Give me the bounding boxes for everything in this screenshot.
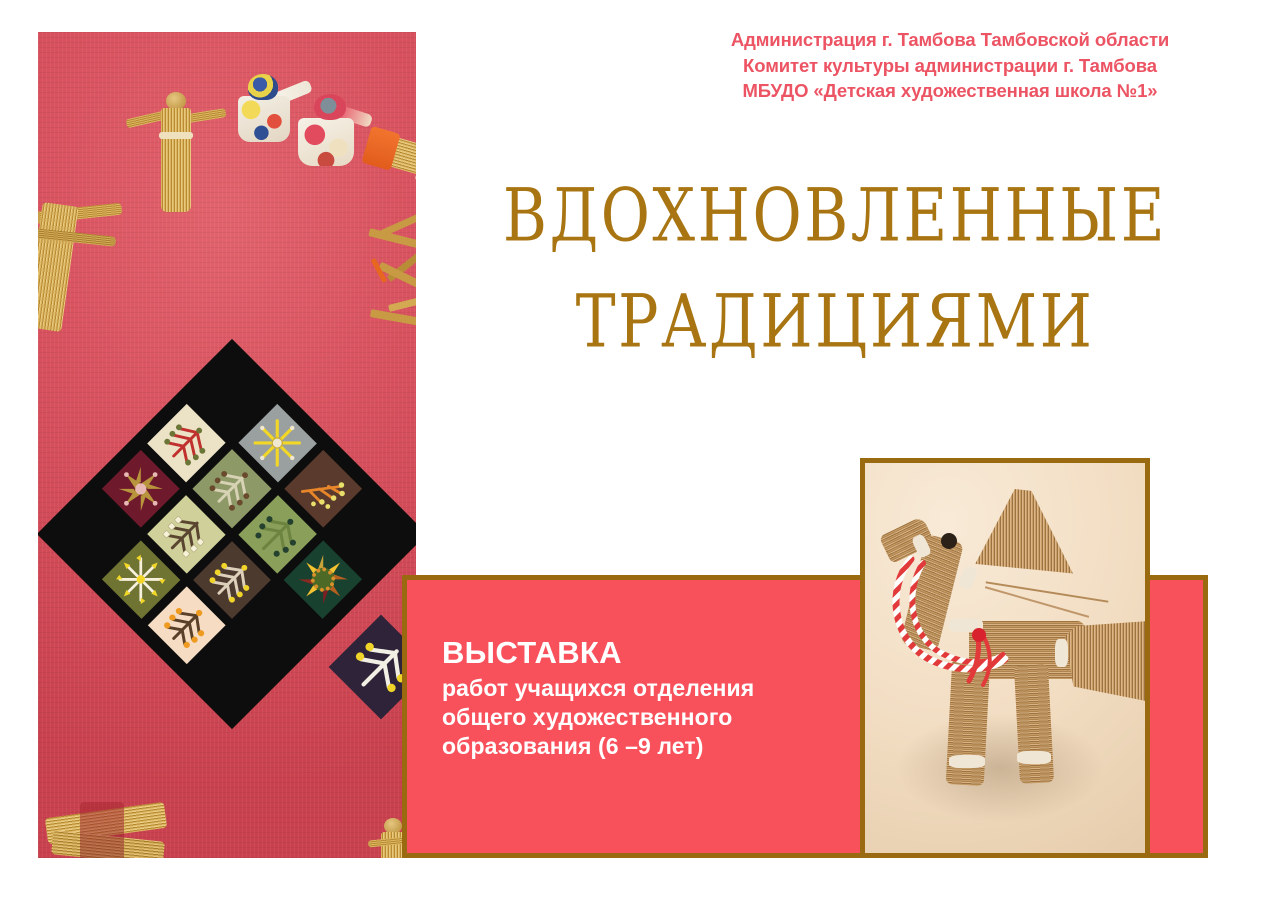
poster-title-line-1: ВДОХНОВЛЕННЫЕ <box>420 176 1250 257</box>
red-cloth-accent <box>80 802 124 858</box>
cloth-doll-figure-2 <box>296 94 366 180</box>
exhibition-body-line-1: работ учащихся отделения <box>442 674 872 703</box>
doll-waist-tie <box>159 132 193 139</box>
exhibition-body-line-2: общего художественного <box>442 703 872 732</box>
poster-canvas: ВЫСТАВКА работ учащихся отделения общего… <box>0 0 1280 905</box>
cloth-doll-headscarf <box>314 94 346 120</box>
straw-dolls-and-patchwork-quilt-photo <box>38 32 416 858</box>
doll-body <box>161 108 191 212</box>
straw-doll-figure <box>128 92 224 222</box>
straw-bundle-bottom-left <box>46 792 176 858</box>
straw-horse-figure-photo <box>860 458 1150 858</box>
exhibition-text-block: ВЫСТАВКА работ учащихся отделения общего… <box>442 635 872 761</box>
horse-bridle-reins <box>865 463 1145 853</box>
straw-doll-figure-cropped <box>38 182 140 342</box>
organizer-line-1: Администрация г. Тамбова Тамбовской обла… <box>660 27 1240 53</box>
exhibition-body-line-3: образования (6 –9 лет) <box>442 732 872 761</box>
exhibition-heading: ВЫСТАВКА <box>442 635 872 671</box>
tangled-straw-figure <box>366 212 416 342</box>
cloth-doll-dress <box>298 118 354 166</box>
organizer-line-2: Комитет культуры администрации г. Тамбов… <box>660 53 1240 79</box>
doll-body <box>38 202 79 332</box>
patchwork-quilt-panel <box>52 372 412 812</box>
organizer-line-3: МБУДО «Детская художественная школа №1» <box>660 78 1240 104</box>
poster-title-line-2: ТРАДИЦИЯМИ <box>420 282 1250 363</box>
cloth-doll-dress <box>238 96 290 142</box>
cloth-doll-figure-1 <box>234 74 300 154</box>
organizer-header: Администрация г. Тамбова Тамбовской обла… <box>660 27 1240 104</box>
cloth-doll-headscarf <box>248 74 278 100</box>
poster-title: ВДОХНОВЛЕННЫЕ ТРАДИЦИЯМИ <box>420 176 1250 348</box>
exhibition-body: работ учащихся отделения общего художест… <box>442 674 872 761</box>
